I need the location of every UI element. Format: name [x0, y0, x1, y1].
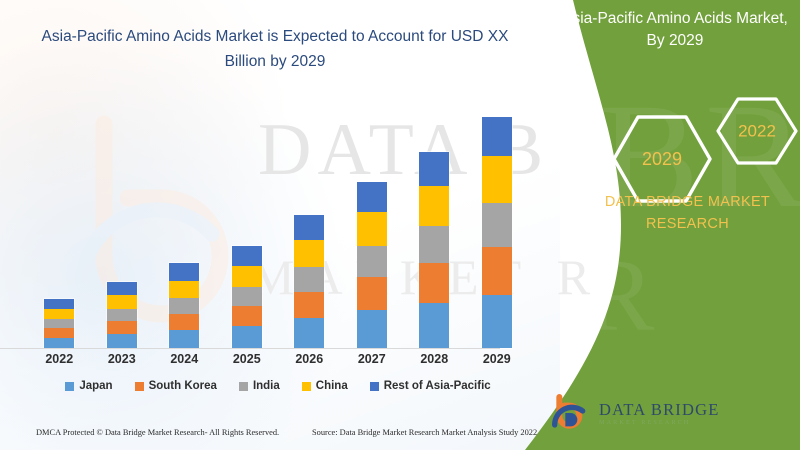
bar-segment-china[interactable]: [44, 309, 74, 319]
brand-block: DATA BRIDGE MARKET RESEARCH: [590, 192, 785, 236]
bar-segment-rest-of-asia-pacific[interactable]: [482, 117, 512, 156]
legend-swatch-south-korea: [135, 382, 144, 391]
bar-segment-japan[interactable]: [419, 303, 449, 348]
bar-segment-south-korea[interactable]: [294, 292, 324, 318]
x-axis-label-2027: 2027: [344, 352, 400, 366]
footer-source: Source: Data Bridge Market Research Mark…: [312, 428, 537, 437]
legend-swatch-japan: [65, 382, 74, 391]
bar-segment-japan[interactable]: [482, 295, 512, 348]
bar-slot: [344, 100, 400, 348]
bar-segment-india[interactable]: [169, 298, 199, 314]
stacked-bar-2027[interactable]: [357, 182, 387, 348]
x-axis-labels: 20222023202420252026202720282029: [28, 352, 528, 366]
bar-segment-china[interactable]: [169, 281, 199, 298]
legend-swatch-china: [302, 382, 311, 391]
bar-segment-china[interactable]: [482, 156, 512, 203]
legend-item-rest-of-asia-pacific[interactable]: Rest of Asia-Pacific: [370, 380, 491, 392]
bar-segment-south-korea[interactable]: [44, 328, 74, 338]
legend-item-china[interactable]: China: [302, 380, 348, 392]
bar-segment-china[interactable]: [107, 295, 137, 309]
bar-segment-japan[interactable]: [44, 338, 74, 348]
bar-segment-japan[interactable]: [107, 334, 137, 348]
stacked-bar-2026[interactable]: [294, 215, 324, 348]
bar-segment-india[interactable]: [107, 309, 137, 321]
bar-segment-south-korea[interactable]: [419, 263, 449, 303]
bar-segment-china[interactable]: [419, 186, 449, 226]
stacked-bar-chart: [28, 100, 528, 348]
bar-segment-south-korea[interactable]: [107, 321, 137, 334]
logo-tagline: MARKET RESEARCH: [599, 420, 720, 426]
stacked-bar-2022[interactable]: [44, 299, 74, 348]
bar-segment-south-korea[interactable]: [232, 306, 262, 326]
bar-segment-south-korea[interactable]: [482, 247, 512, 295]
x-axis-label-2023: 2023: [94, 352, 150, 366]
legend-label-china: China: [316, 380, 348, 392]
bar-segment-india[interactable]: [294, 267, 324, 292]
panel-title: Asia-Pacific Amino Acids Market, By 2029: [560, 8, 790, 52]
bar-segment-south-korea[interactable]: [169, 314, 199, 330]
bar-slot: [406, 100, 462, 348]
bar-segment-india[interactable]: [419, 226, 449, 263]
bar-slot: [281, 100, 337, 348]
footer: DMCA Protected © Data Bridge Market Rese…: [0, 425, 545, 447]
bar-segment-china[interactable]: [357, 212, 387, 246]
bar-segment-japan[interactable]: [232, 326, 262, 348]
bar-slot: [31, 100, 87, 348]
bar-segment-rest-of-asia-pacific[interactable]: [107, 282, 137, 295]
bar-slot: [219, 100, 275, 348]
x-axis-label-2022: 2022: [31, 352, 87, 366]
bar-segment-rest-of-asia-pacific[interactable]: [357, 182, 387, 212]
legend-label-india: India: [253, 380, 280, 392]
bar-segment-china[interactable]: [294, 240, 324, 267]
bar-slot: [469, 100, 525, 348]
bar-segment-rest-of-asia-pacific[interactable]: [44, 299, 74, 309]
bar-segment-rest-of-asia-pacific[interactable]: [232, 246, 262, 266]
logo-text: DATA BRIDGE MARKET RESEARCH: [599, 400, 720, 427]
x-axis-label-2028: 2028: [406, 352, 462, 366]
bar-segment-japan[interactable]: [294, 318, 324, 348]
data-bridge-logomark-icon: [552, 393, 592, 433]
legend-swatch-india: [239, 382, 248, 391]
bar-segment-china[interactable]: [232, 266, 262, 287]
stacked-bar-2023[interactable]: [107, 282, 137, 348]
legend-item-india[interactable]: India: [239, 380, 280, 392]
bar-segment-india[interactable]: [357, 246, 387, 277]
legend-swatch-rest-of-asia-pacific: [370, 382, 379, 391]
legend-label-south-korea: South Korea: [149, 380, 217, 392]
hexagon-2029-label: 2029: [642, 149, 682, 169]
svg-text:R: R: [585, 238, 664, 353]
bar-segment-india[interactable]: [44, 319, 74, 328]
bar-segment-south-korea[interactable]: [357, 277, 387, 310]
x-axis-label-2025: 2025: [219, 352, 275, 366]
bar-segment-rest-of-asia-pacific[interactable]: [294, 215, 324, 240]
legend-label-rest-of-asia-pacific: Rest of Asia-Pacific: [384, 380, 491, 392]
bar-segment-japan[interactable]: [169, 330, 199, 348]
stacked-bar-2029[interactable]: [482, 117, 512, 348]
chart-legend: JapanSouth KoreaIndiaChinaRest of Asia-P…: [28, 380, 528, 392]
footer-copyright: DMCA Protected © Data Bridge Market Rese…: [36, 428, 279, 437]
stacked-bar-2028[interactable]: [419, 152, 449, 348]
legend-item-japan[interactable]: Japan: [65, 380, 112, 392]
company-logo: DATA BRIDGE MARKET RESEARCH: [552, 392, 732, 434]
x-axis-line: [0, 348, 500, 349]
brand-line-1: DATA BRIDGE MARKET: [590, 192, 785, 214]
x-axis-label-2029: 2029: [469, 352, 525, 366]
x-axis-label-2024: 2024: [156, 352, 212, 366]
x-axis-label-2026: 2026: [281, 352, 337, 366]
page-title: Asia-Pacific Amino Acids Market is Expec…: [30, 24, 520, 74]
bar-segment-japan[interactable]: [357, 310, 387, 348]
stacked-bar-2024[interactable]: [169, 263, 199, 348]
legend-item-south-korea[interactable]: South Korea: [135, 380, 217, 392]
bar-segment-rest-of-asia-pacific[interactable]: [419, 152, 449, 186]
chart-plot-area: [28, 100, 528, 348]
bar-segment-rest-of-asia-pacific[interactable]: [169, 263, 199, 281]
legend-label-japan: Japan: [79, 380, 112, 392]
stacked-bar-2025[interactable]: [232, 246, 262, 348]
bar-slot: [94, 100, 150, 348]
bar-slot: [156, 100, 212, 348]
brand-line-2: RESEARCH: [590, 214, 785, 236]
logo-name: DATA BRIDGE: [599, 402, 720, 419]
bar-segment-india[interactable]: [482, 203, 512, 247]
hexagon-2022-label: 2022: [738, 121, 776, 140]
bar-segment-india[interactable]: [232, 287, 262, 306]
infographic-root: DATA B MARKET R Asia-Pacific Amino Acids…: [0, 0, 800, 450]
